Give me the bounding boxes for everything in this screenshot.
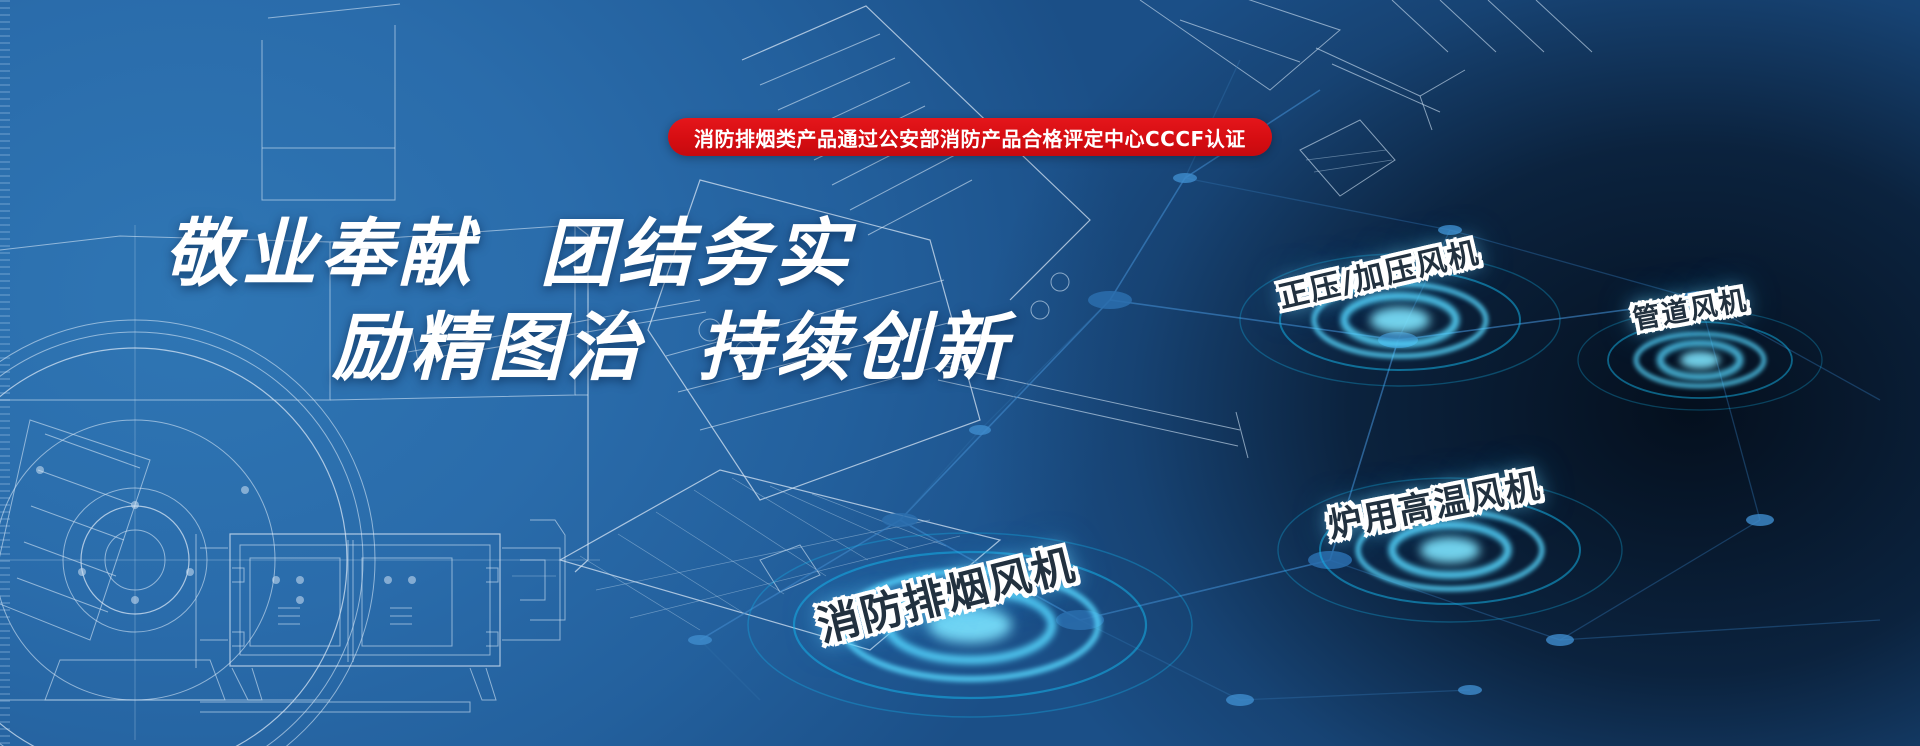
slogan-line1-part2: 团结务实 [540,215,852,293]
blueprint-air-handling-unit-topleft-small [262,4,400,200]
blueprint-duct-bottomleft [0,420,150,640]
product-label-high-temperature-fan-text: 炉用高温风机 [1323,458,1544,547]
slogan-line2-part2: 持续创新 [698,309,1010,387]
slogan-block: 敬业奉献 团结务实 励精图治 持续创新 [150,215,1010,388]
slogan-line2-part1: 励精图治 [332,309,644,387]
hero-banner: 正压/加压风机 管道风机 炉用高温风机 消防排烟风机 敬业奉献 团结务实 励精图… [0,0,1920,746]
certification-badge-text: 消防排烟类产品通过公安部消防产品合格评定中心CCCF认证 [694,123,1246,152]
glow-pad-smoke-exhaust-fan [740,500,1200,746]
slogan-line-1: 敬业奉献 团结务实 [150,215,1010,293]
product-label-duct-fan-text: 管道风机 [1629,278,1750,337]
slogan-line-2: 励精图治 持续创新 [150,309,1010,387]
left-edge-stripe [0,0,10,746]
blueprint-nozzle-topright [1140,0,1592,196]
slogan-line1-part1: 敬业奉献 [164,215,476,293]
product-label-pressurization-fan: 正压/加压风机 [1274,228,1484,317]
product-label-high-temperature-fan: 炉用高温风机 [1323,458,1544,547]
certification-badge[interactable]: 消防排烟类产品通过公安部消防产品合格评定中心CCCF认证 [668,118,1272,156]
product-label-smoke-exhaust-fan-text: 消防排烟风机 [811,531,1082,654]
product-label-duct-fan: 管道风机 [1629,278,1750,337]
blueprint-ahu-cabinet-bottomleft [196,534,560,712]
product-label-pressurization-fan-text: 正压/加压风机 [1274,228,1484,317]
product-label-smoke-exhaust-fan: 消防排烟风机 [811,531,1082,654]
